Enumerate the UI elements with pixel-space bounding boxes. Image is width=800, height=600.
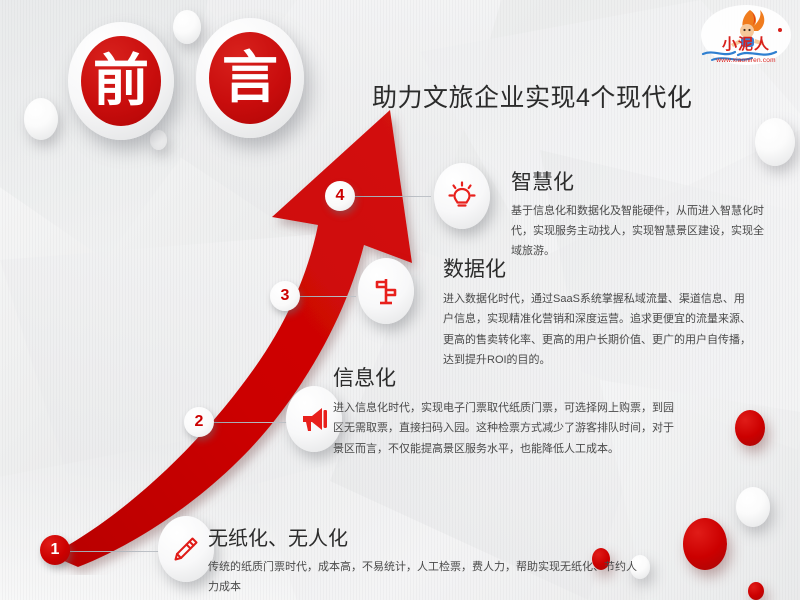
- step-icon-disc-3[interactable]: [358, 258, 414, 324]
- decorative-sphere: [150, 130, 167, 150]
- step-title-1: 无纸化、无人化: [208, 522, 638, 551]
- signpost-icon: [370, 275, 402, 307]
- step-body-3: 进入数据化时代，通过SaaS系统掌握私域流量、渠道信息、用户信息，实现精准化营销…: [443, 289, 753, 370]
- page-title: 助力文旅企业实现4个现代化: [372, 78, 692, 114]
- logo-brand-text: 小泥人: [700, 33, 792, 54]
- step-block-4: 智慧化 基于信息化和数据化及智能硬件，从而进入智慧化时代，实现服务主动找人，实现…: [511, 166, 766, 261]
- pencil-icon: [170, 533, 202, 565]
- title-badge-qian: 前: [68, 22, 174, 140]
- decorative-sphere: [735, 410, 765, 446]
- logo-url-text: www.xiaoniren.com: [700, 57, 792, 64]
- step-number-1[interactable]: 1: [40, 535, 70, 565]
- megaphone-icon: [298, 403, 330, 435]
- decorative-sphere: [748, 582, 764, 600]
- lightbulb-icon: [446, 180, 478, 212]
- step-body-4: 基于信息化和数据化及智能硬件，从而进入智慧化时代，实现服务主动找人，实现智慧景区…: [511, 202, 766, 261]
- decorative-sphere: [683, 518, 727, 570]
- title-badge-yan-char: 言: [209, 32, 291, 124]
- step-number-4[interactable]: 4: [325, 181, 355, 211]
- step-body-2: 进入信息化时代，实现电子门票取代纸质门票，可选择网上购票，到园区无需取票，直接扫…: [333, 398, 683, 459]
- step-icon-disc-1[interactable]: [158, 516, 214, 582]
- title-badge-yan: 言: [196, 18, 304, 138]
- step-block-3: 数据化 进入数据化时代，通过SaaS系统掌握私域流量、渠道信息、用户信息，实现精…: [443, 253, 753, 370]
- step-title-4: 智慧化: [511, 166, 766, 196]
- title-badge-qian-char: 前: [81, 36, 161, 126]
- step-icon-disc-4[interactable]: [434, 163, 490, 229]
- connector-line-2: [214, 422, 288, 423]
- step-number-3[interactable]: 3: [270, 281, 300, 311]
- step-block-1: 无纸化、无人化 传统的纸质门票时代，成本高，不易统计，人工检票，费人力，帮助实现…: [208, 522, 638, 598]
- connector-line-4: [355, 196, 431, 197]
- presentation-slide: 前 言 助力文旅企业实现4个现代化 小泥人 www.xiaoniren.com: [0, 0, 800, 600]
- decorative-sphere: [24, 98, 58, 140]
- decorative-sphere: [755, 118, 795, 166]
- step-number-2[interactable]: 2: [184, 407, 214, 437]
- brand-logo: 小泥人 www.xiaoniren.com: [700, 4, 792, 66]
- connector-line-1: [70, 551, 160, 552]
- decorative-sphere: [736, 487, 770, 527]
- step-body-1: 传统的纸质门票时代，成本高，不易统计，人工检票，费人力，帮助实现无纸化、节约人力…: [208, 557, 638, 598]
- step-block-2: 信息化 进入信息化时代，实现电子门票取代纸质门票，可选择网上购票，到园区无需取票…: [333, 362, 683, 459]
- connector-line-3: [300, 296, 356, 297]
- decorative-sphere: [173, 10, 201, 44]
- growth-arrow: [20, 95, 440, 575]
